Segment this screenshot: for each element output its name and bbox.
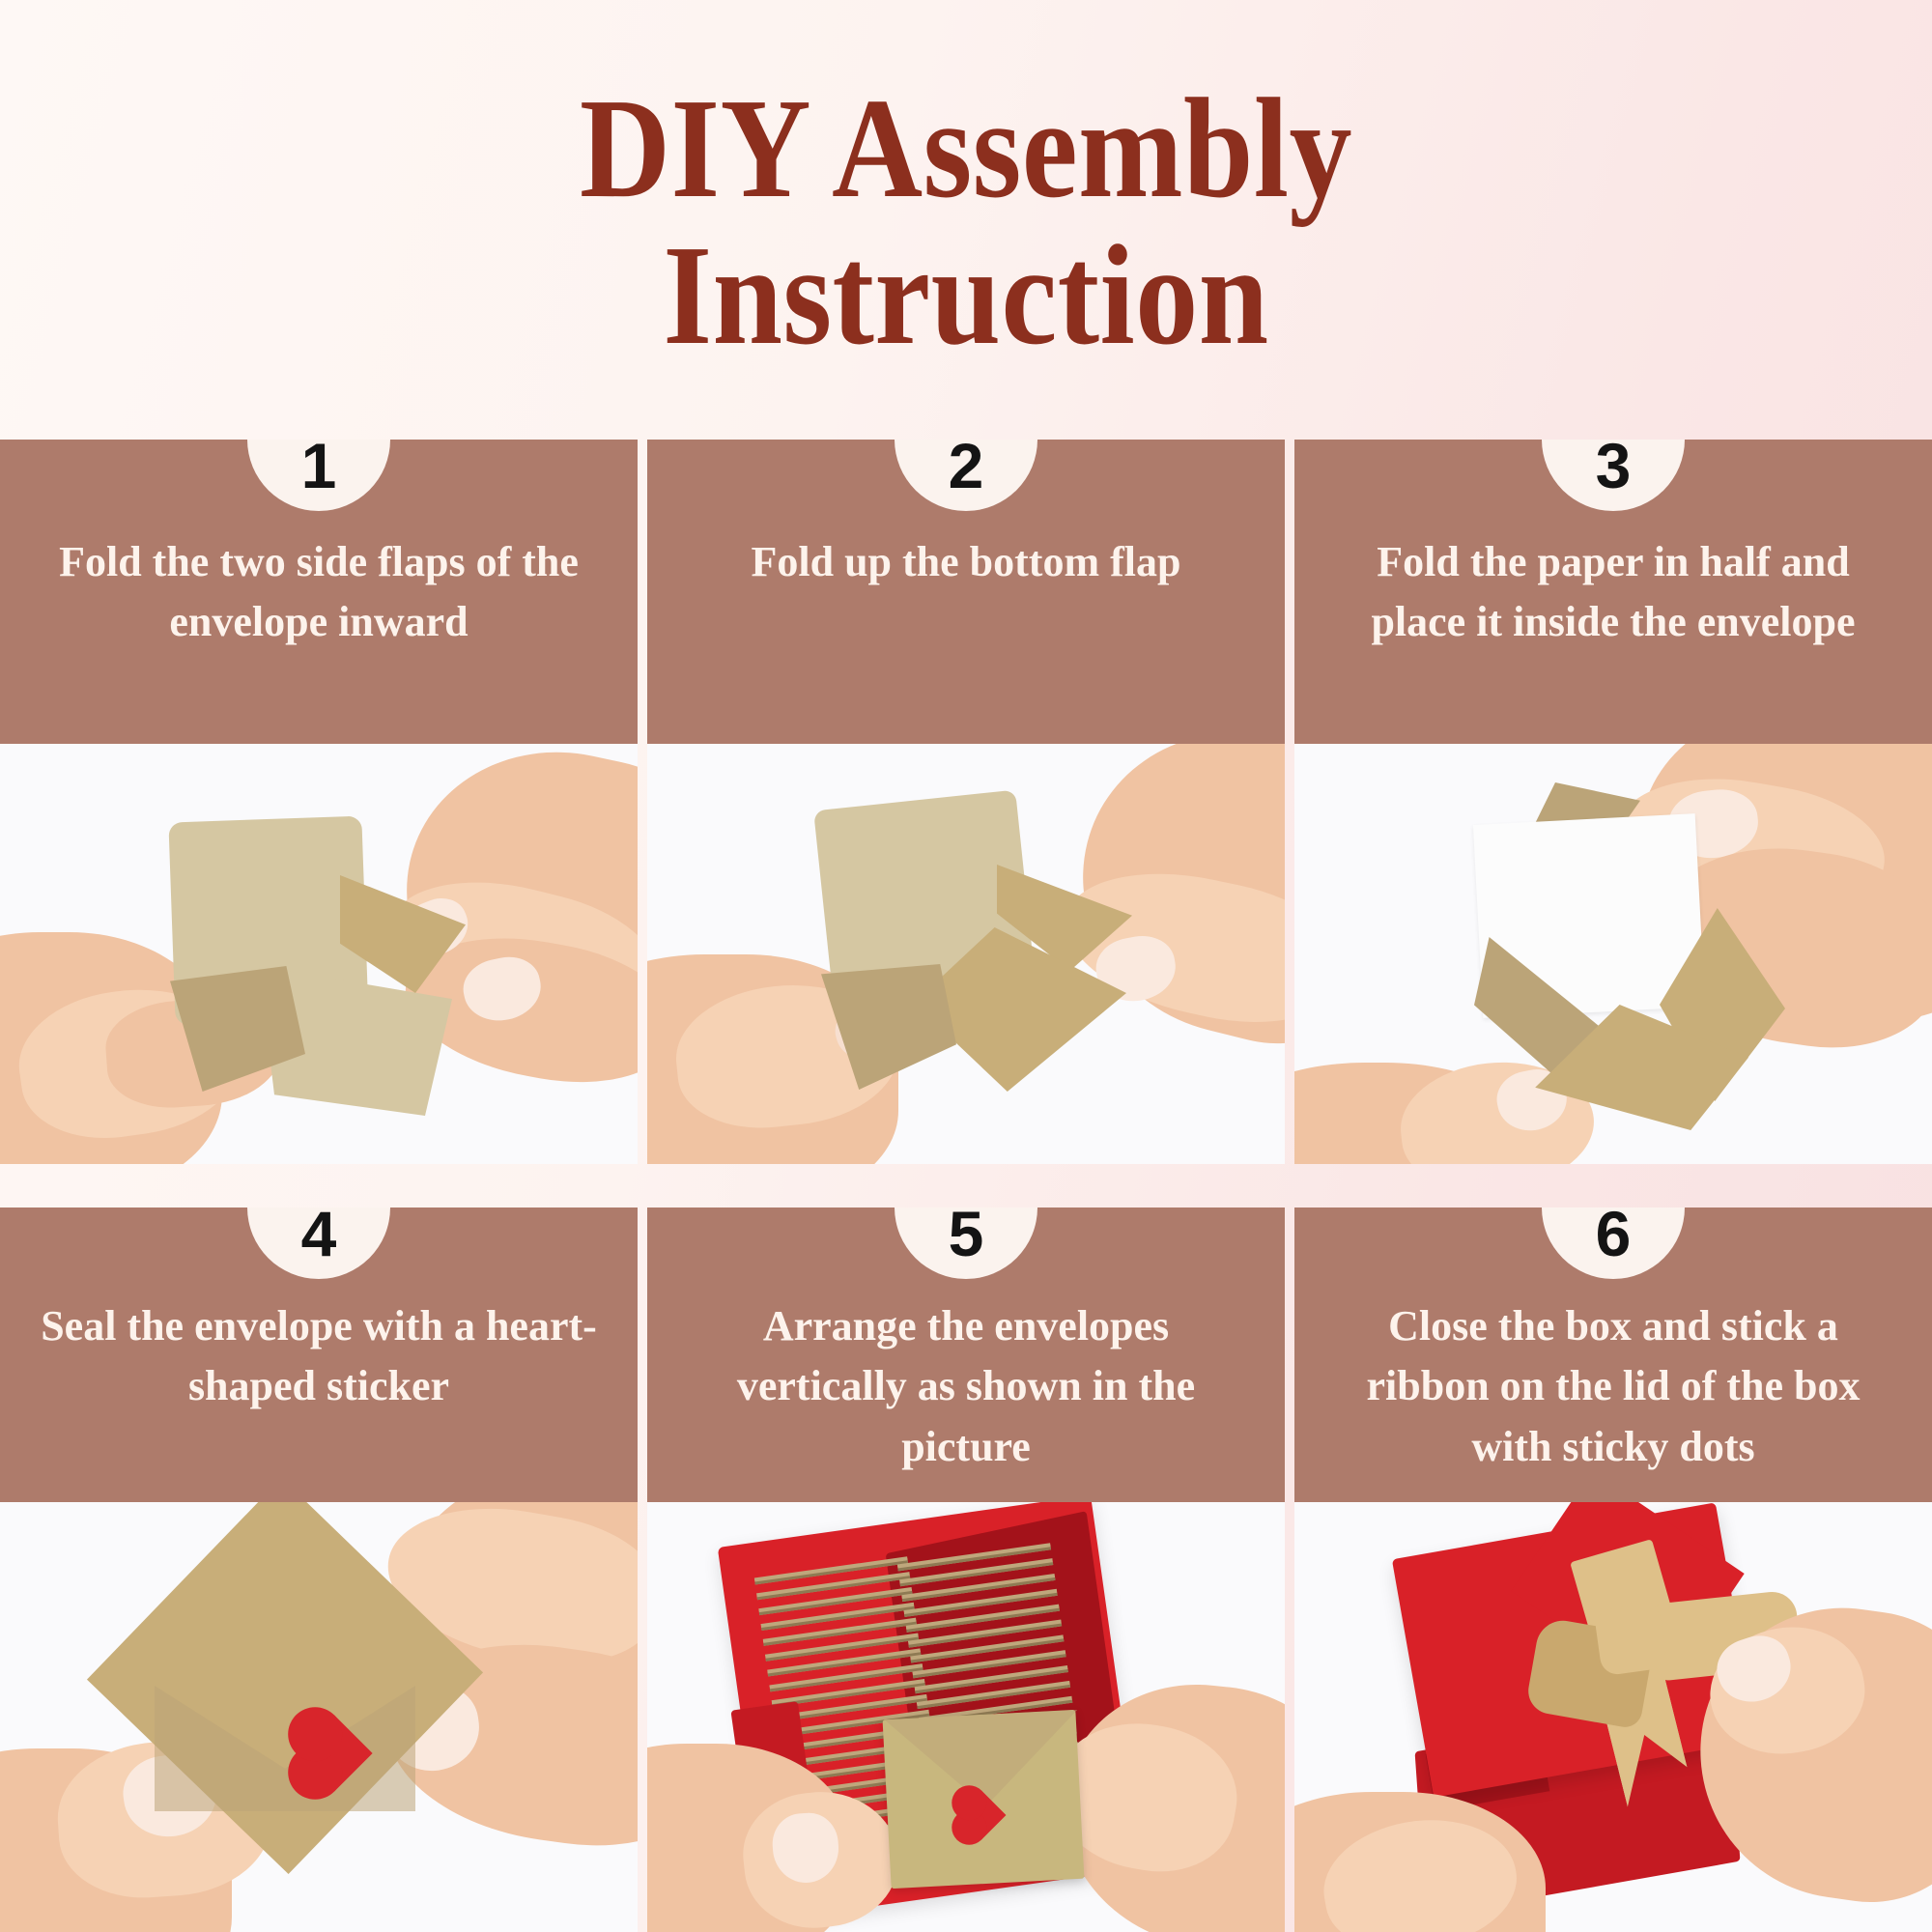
step-card-2[interactable]: 2 Fold up the bottom flap: [647, 440, 1285, 1164]
step-photo-1: [0, 744, 638, 1164]
step-number-2: 2: [895, 440, 1037, 497]
step-card-1[interactable]: 1 Fold the two side flaps of the envelop…: [0, 440, 638, 1164]
steps-row-1: 1 Fold the two side flaps of the envelop…: [0, 440, 1932, 1164]
step-photo-3: [1294, 744, 1932, 1164]
step-caption-1: Fold the two side flaps of the envelope …: [0, 532, 638, 653]
scene-envelopes-in-red-box: [647, 1502, 1285, 1932]
step-caption-band-5: 5 Arrange the envelopes vertically as sh…: [647, 1207, 1285, 1502]
scene-closed-gift-box: [1294, 1502, 1932, 1932]
scene-fold-bottom-flap: [647, 744, 1285, 1164]
step-caption-band-4: 4 Seal the envelope with a heart-shaped …: [0, 1207, 638, 1502]
steps-row-2: 4 Seal the envelope with a heart-shaped …: [0, 1207, 1932, 1932]
step-photo-4: [0, 1502, 638, 1932]
step-number-4: 4: [247, 1207, 390, 1265]
step-number-5: 5: [895, 1207, 1037, 1265]
step-number-3: 3: [1542, 440, 1685, 497]
scene-fold-side-flaps: [0, 744, 638, 1164]
step-caption-3: Fold the paper in half and place it insi…: [1294, 532, 1932, 653]
step-caption-2: Fold up the bottom flap: [647, 532, 1285, 592]
step-caption-4: Seal the envelope with a heart-shaped st…: [0, 1296, 638, 1417]
step-caption-5: Arrange the envelopes vertically as show…: [647, 1296, 1285, 1477]
ribbon-bow-knot: [1594, 1603, 1668, 1677]
page-title: DIY Assembly Instruction: [116, 75, 1816, 370]
step-caption-band-2: 2 Fold up the bottom flap: [647, 440, 1285, 744]
step-card-6[interactable]: 6 Close the box and stick a ribbon on th…: [1294, 1207, 1932, 1932]
title-line-1: DIY Assembly: [116, 75, 1816, 222]
step-caption-band-6: 6 Close the box and stick a ribbon on th…: [1294, 1207, 1932, 1502]
step-card-3[interactable]: 3 Fold the paper in half and place it in…: [1294, 440, 1932, 1164]
step-card-4[interactable]: 4 Seal the envelope with a heart-shaped …: [0, 1207, 638, 1932]
scene-insert-paper: [1294, 744, 1932, 1164]
step-number-1: 1: [247, 440, 390, 497]
step-caption-6: Close the box and stick a ribbon on the …: [1294, 1296, 1932, 1477]
step-number-6: 6: [1542, 1207, 1685, 1265]
step-photo-2: [647, 744, 1285, 1164]
header: DIY Assembly Instruction: [0, 0, 1932, 440]
step-card-5[interactable]: 5 Arrange the envelopes vertically as sh…: [647, 1207, 1285, 1932]
step-photo-6: [1294, 1502, 1932, 1932]
scene-heart-sticker-seal: [0, 1502, 638, 1932]
step-caption-band-1: 1 Fold the two side flaps of the envelop…: [0, 440, 638, 744]
step-caption-band-3: 3 Fold the paper in half and place it in…: [1294, 440, 1932, 744]
title-line-2: Instruction: [116, 222, 1816, 369]
step-photo-5: [647, 1502, 1285, 1932]
infographic-page: DIY Assembly Instruction 1 Fold the two …: [0, 0, 1932, 1932]
